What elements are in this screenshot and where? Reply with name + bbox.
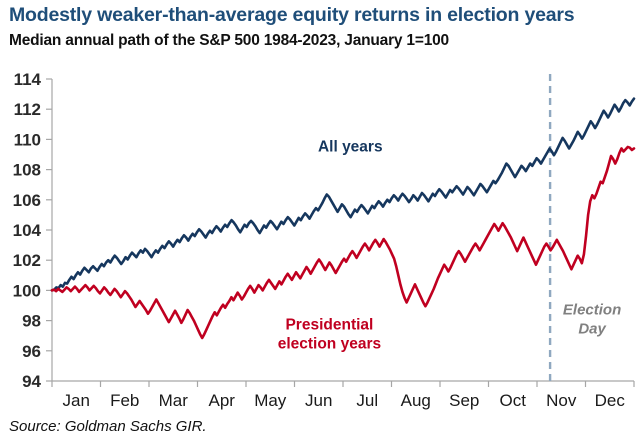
y-tick-label: 104	[13, 221, 42, 240]
y-tick-label: 112	[14, 100, 41, 119]
series-label-line: Presidential	[285, 317, 373, 334]
series-label-all-years: All years	[318, 138, 383, 155]
y-tick-label: 114	[14, 70, 42, 89]
x-tick-label: Jun	[305, 391, 332, 410]
x-tick-label: Feb	[110, 391, 139, 410]
chart-figure: Modestly weaker-than-average equity retu…	[0, 0, 640, 444]
x-tick-label: Sep	[449, 391, 479, 410]
x-tick-label: Apr	[209, 391, 236, 410]
y-tick-label: 100	[13, 281, 41, 300]
series-label-line: election years	[278, 336, 381, 353]
y-tick-label: 98	[22, 312, 41, 331]
y-tick-label: 110	[14, 130, 41, 149]
y-tick-label: 94	[22, 372, 41, 391]
x-axis-ticks: JanFebMarAprMayJunJulAugSepOctNovDec	[52, 381, 634, 410]
series-label-presidential-election-years: Presidentialelection years	[278, 317, 381, 353]
y-tick-label: 108	[13, 161, 41, 180]
x-tick-label: Aug	[401, 391, 431, 410]
election-day-label-line: Day	[578, 321, 606, 338]
y-tick-label: 96	[22, 342, 41, 361]
y-tick-label: 102	[13, 251, 41, 270]
x-tick-label: Oct	[500, 391, 527, 410]
x-tick-label: Jul	[356, 391, 378, 410]
series-line-presidential-election-years	[52, 147, 634, 338]
chart-canvas: 949698100102104106108110112114 JanFebMar…	[0, 0, 640, 444]
x-tick-label: Jan	[63, 391, 90, 410]
x-tick-label: Nov	[546, 391, 577, 410]
y-tick-label: 106	[13, 191, 41, 210]
election-day-label: ElectionDay	[563, 302, 621, 338]
x-tick-label: Dec	[595, 391, 626, 410]
x-tick-label: May	[254, 391, 287, 410]
x-tick-label: Mar	[159, 391, 189, 410]
y-axis-ticks: 949698100102104106108110112114	[13, 70, 52, 391]
election-day-label-line: Election	[563, 302, 621, 319]
